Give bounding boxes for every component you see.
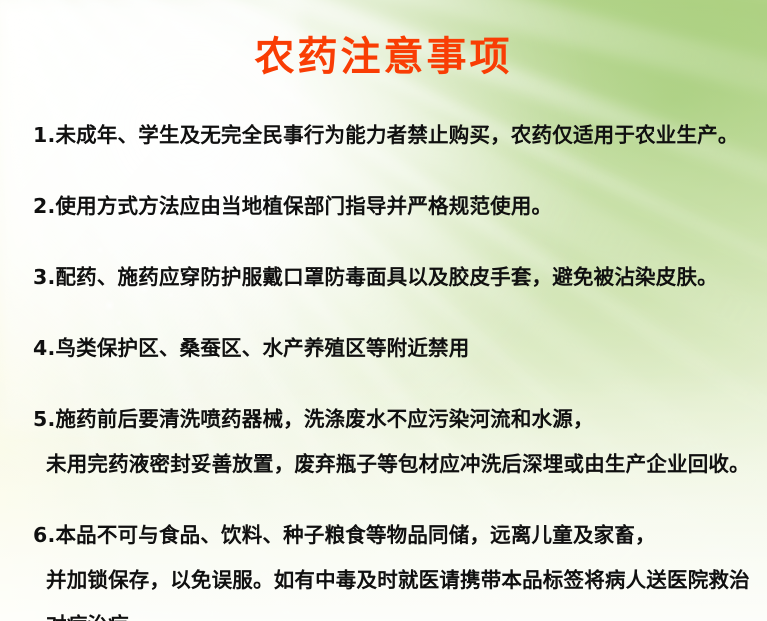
notice-item: 1.未成年、学生及无完全民事行为能力者禁止购买，农药仅适用于农业生产。 <box>33 113 757 158</box>
notice-line-continuation: 对症治疗 <box>33 603 757 621</box>
notice-line-primary: 1.未成年、学生及无完全民事行为能力者禁止购买，农药仅适用于农业生产。 <box>33 113 757 158</box>
notice-line-primary: 4.鸟类保护区、桑蚕区、水产养殖区等附近禁用 <box>33 326 757 371</box>
notice-line-continuation: 未用完药液密封妥善放置，废弃瓶子等包材应冲洗后深埋或由生产企业回收。 <box>33 442 757 487</box>
notice-item: 5.施药前后要清洗喷药器械，洗涤废水不应污染河流和水源，未用完药液密封妥善放置，… <box>33 397 757 487</box>
notice-line-primary: 6.本品不可与食品、饮料、种子粮食等物品同储，远离儿童及家畜， <box>33 513 757 558</box>
pesticide-notice-poster: 农药注意事项 1.未成年、学生及无完全民事行为能力者禁止购买，农药仅适用于农业生… <box>0 0 767 621</box>
notice-line-continuation: 并加锁保存，以免误服。如有中毒及时就医请携带本品标签将病人送医院救治 <box>33 558 757 603</box>
notice-list: 1.未成年、学生及无完全民事行为能力者禁止购买，农药仅适用于农业生产。2.使用方… <box>33 113 757 621</box>
notice-line-primary: 5.施药前后要清洗喷药器械，洗涤废水不应污染河流和水源， <box>33 397 757 442</box>
notice-item: 6.本品不可与食品、饮料、种子粮食等物品同储，远离儿童及家畜，并加锁保存，以免误… <box>33 513 757 621</box>
notice-item: 4.鸟类保护区、桑蚕区、水产养殖区等附近禁用 <box>33 326 757 371</box>
notice-line-primary: 2.使用方式方法应由当地植保部门指导并严格规范使用。 <box>33 184 757 229</box>
page-title: 农药注意事项 <box>0 34 767 80</box>
notice-item: 3.配药、施药应穿防护服戴口罩防毒面具以及胶皮手套，避免被沾染皮肤。 <box>33 255 757 300</box>
notice-item: 2.使用方式方法应由当地植保部门指导并严格规范使用。 <box>33 184 757 229</box>
poster-content: 农药注意事项 1.未成年、学生及无完全民事行为能力者禁止购买，农药仅适用于农业生… <box>0 0 767 621</box>
notice-line-primary: 3.配药、施药应穿防护服戴口罩防毒面具以及胶皮手套，避免被沾染皮肤。 <box>33 255 757 300</box>
